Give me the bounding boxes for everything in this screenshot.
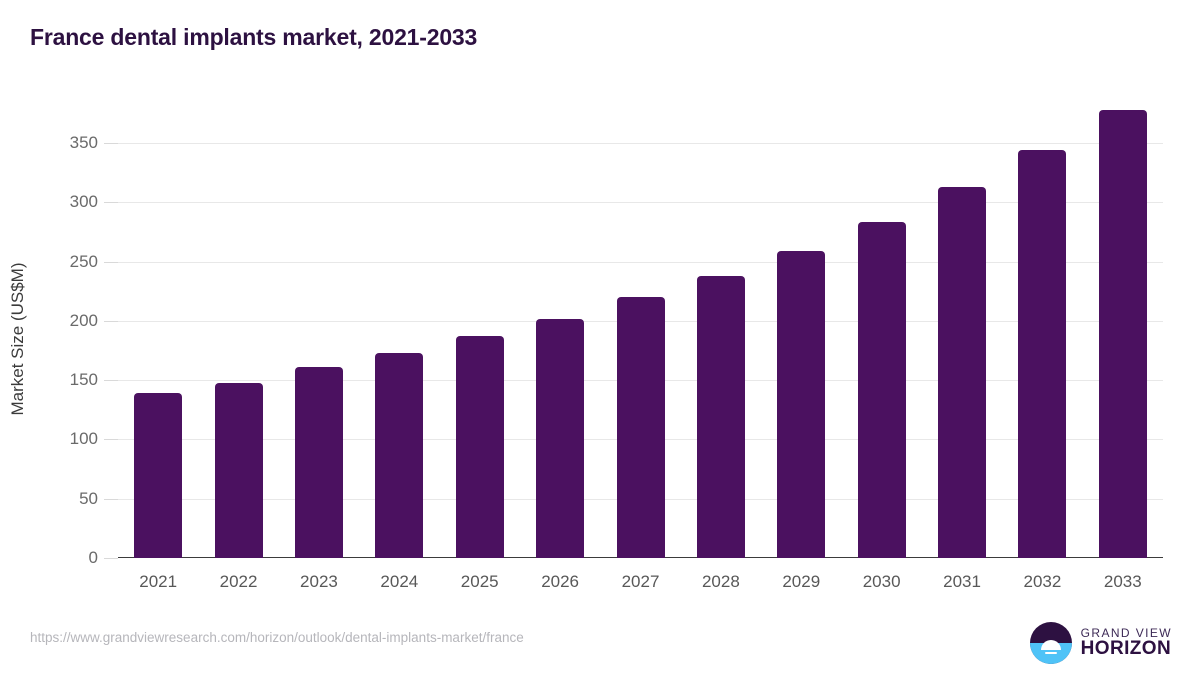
bar-2021[interactable] <box>134 393 182 558</box>
y-tick-label: 350 <box>28 133 98 153</box>
y-tick-mark <box>104 439 118 440</box>
x-tick-label: 2023 <box>279 572 359 592</box>
source-url[interactable]: https://www.grandviewresearch.com/horizo… <box>30 630 524 645</box>
y-tick-mark <box>104 321 118 322</box>
y-tick-label: 300 <box>28 192 98 212</box>
chart-card: France dental implants market, 2021-2033… <box>0 0 1200 675</box>
y-tick-mark <box>104 499 118 500</box>
logo-ray-1 <box>1042 648 1060 650</box>
bar-2029[interactable] <box>777 251 825 558</box>
x-tick-label: 2032 <box>1002 572 1082 592</box>
y-tick-mark <box>104 558 118 559</box>
y-tick-label: 50 <box>28 489 98 509</box>
gridline <box>118 143 1163 144</box>
gridline <box>118 262 1163 263</box>
bar-2022[interactable] <box>215 383 263 558</box>
y-tick-mark <box>104 380 118 381</box>
plot-area <box>118 100 1163 558</box>
bar-2026[interactable] <box>536 319 584 559</box>
x-tick-label: 2026 <box>520 572 600 592</box>
bar-2031[interactable] <box>938 187 986 558</box>
gridline <box>118 202 1163 203</box>
bar-2023[interactable] <box>295 367 343 558</box>
x-tick-label: 2024 <box>359 572 439 592</box>
logo-wordmark: GRAND VIEW HORIZON <box>1081 627 1172 660</box>
logo-bottom-text: HORIZON <box>1081 639 1172 659</box>
x-tick-label: 2027 <box>601 572 681 592</box>
y-axis-title: Market Size (US$M) <box>8 109 28 569</box>
bar-2025[interactable] <box>456 336 504 558</box>
y-tick-label: 150 <box>28 370 98 390</box>
x-tick-label: 2030 <box>842 572 922 592</box>
x-tick-label: 2033 <box>1083 572 1163 592</box>
y-tick-mark <box>104 262 118 263</box>
x-tick-label: 2021 <box>118 572 198 592</box>
x-tick-label: 2029 <box>761 572 841 592</box>
y-tick-mark <box>104 202 118 203</box>
y-tick-label: 0 <box>28 548 98 568</box>
brand-logo: GRAND VIEW HORIZON <box>1030 622 1172 664</box>
x-tick-label: 2028 <box>681 572 761 592</box>
x-tick-label: 2031 <box>922 572 1002 592</box>
bar-2033[interactable] <box>1099 110 1147 558</box>
x-tick-label: 2025 <box>440 572 520 592</box>
sun-horizon-icon <box>1030 622 1072 664</box>
x-tick-label: 2022 <box>199 572 279 592</box>
chart-canvas: Market Size (US$M) 050100150200250300350… <box>0 0 1200 675</box>
bar-2030[interactable] <box>858 222 906 558</box>
bar-2027[interactable] <box>617 297 665 558</box>
bar-2028[interactable] <box>697 276 745 558</box>
bar-2024[interactable] <box>375 353 423 558</box>
bar-2032[interactable] <box>1018 150 1066 558</box>
y-tick-label: 250 <box>28 252 98 272</box>
y-tick-label: 200 <box>28 311 98 331</box>
y-tick-label: 100 <box>28 429 98 449</box>
y-tick-mark <box>104 143 118 144</box>
logo-ray-2 <box>1045 652 1057 654</box>
